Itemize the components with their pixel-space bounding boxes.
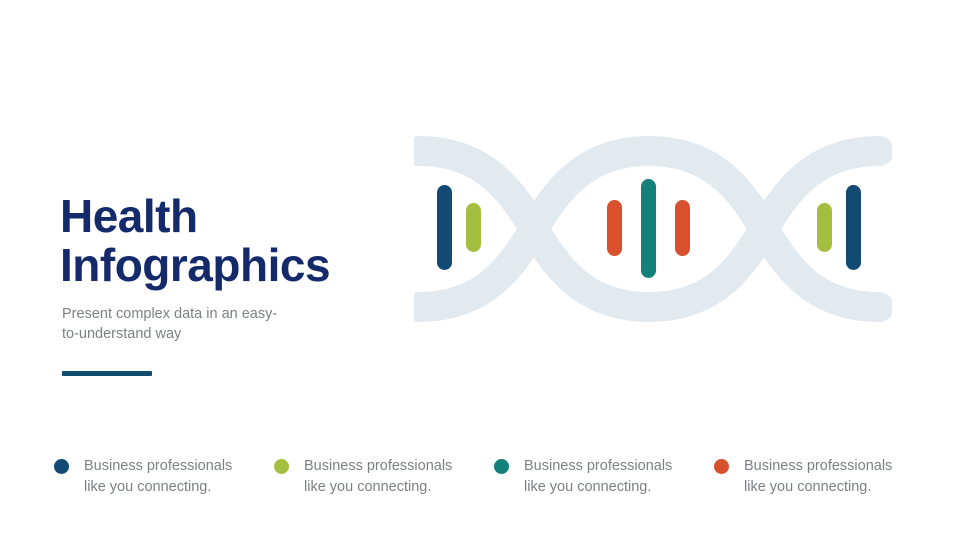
slide-canvas: Health Infographics Present complex data… bbox=[0, 0, 980, 551]
rung-red-center-right bbox=[675, 200, 690, 256]
legend-bullet-icon bbox=[54, 459, 69, 474]
dna-helix-graphic bbox=[414, 133, 892, 325]
legend-item-label: Business professionals like you connecti… bbox=[744, 456, 892, 497]
rung-navy-left bbox=[437, 185, 452, 270]
page-subtitle: Present complex data in an easy- to-unde… bbox=[62, 304, 312, 345]
legend-item-1[interactable]: Business professionals like you connecti… bbox=[54, 456, 274, 497]
legend-item-4[interactable]: Business professionals like you connecti… bbox=[714, 456, 934, 497]
legend-row: Business professionals like you connecti… bbox=[54, 456, 934, 497]
accent-underline bbox=[62, 371, 152, 376]
legend-item-3[interactable]: Business professionals like you connecti… bbox=[494, 456, 714, 497]
legend-item-label: Business professionals like you connecti… bbox=[524, 456, 672, 497]
page-title: Health Infographics bbox=[60, 192, 390, 290]
legend-item-2[interactable]: Business professionals like you connecti… bbox=[274, 456, 494, 497]
rung-red-center-left bbox=[607, 200, 622, 256]
rung-olive-right bbox=[817, 203, 832, 252]
title-block: Health Infographics Present complex data… bbox=[60, 192, 390, 376]
legend-item-label: Business professionals like you connecti… bbox=[84, 456, 232, 497]
rung-teal-center bbox=[641, 179, 656, 278]
rung-navy-right bbox=[846, 185, 861, 270]
legend-bullet-icon bbox=[274, 459, 289, 474]
legend-bullet-icon bbox=[494, 459, 509, 474]
rung-olive-left bbox=[466, 203, 481, 252]
legend-item-label: Business professionals like you connecti… bbox=[304, 456, 452, 497]
legend-bullet-icon bbox=[714, 459, 729, 474]
